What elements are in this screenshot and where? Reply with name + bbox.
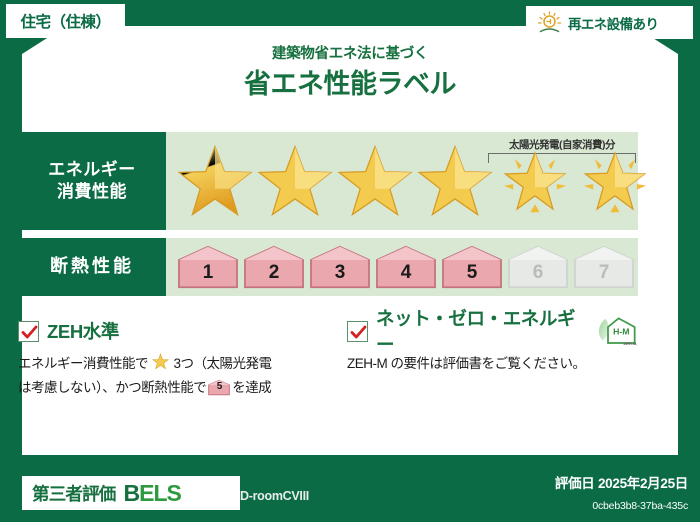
zeh-m-logo-text: H-M <box>613 326 629 336</box>
star-solar <box>496 142 574 220</box>
certification-checks: ZEH水準 エネルギー消費性能で 3つ（太陽光発電 は考慮しない）、かつ断熱性能… <box>18 318 640 408</box>
zeh-standard-section: ZEH水準 エネルギー消費性能で 3つ（太陽光発電 は考慮しない）、かつ断熱性能… <box>18 318 329 408</box>
renewable-equipment-label: 再エネ設備あり <box>568 13 658 33</box>
bels-mark-b: B <box>124 480 140 506</box>
zeh-desc-part3: を達成 <box>232 380 271 395</box>
insulation-performance-label: 断熱性能 <box>18 238 166 296</box>
zeh-m-logo-caption: "ZEH-M, <box>622 341 638 346</box>
inline-house-badge: 5 <box>208 379 230 396</box>
net-zero-energy-title: ネット・ゼロ・エネルギー <box>376 305 586 357</box>
insulation-level-number: 6 <box>533 262 544 289</box>
insulation-level-number: 5 <box>467 262 478 289</box>
inline-star-icon <box>149 358 173 373</box>
zeh-standard-description: エネルギー消費性能で 3つ（太陽光発電 は考慮しない）、かつ断熱性能で 5 を達… <box>18 353 329 399</box>
insulation-rating-body: 1 2 3 <box>166 238 638 296</box>
insulation-level-number: 3 <box>335 262 346 289</box>
zeh-standard-header: ZEH水準 <box>18 318 329 344</box>
renewable-equipment-chip: 再エネ設備あり <box>526 6 693 39</box>
bels-badge: 第三者評価 BELS <box>22 476 240 510</box>
zeh-desc-stars: 3つ（太陽光発電 <box>174 356 272 371</box>
star-rating <box>166 132 638 230</box>
zeh-m-logo-icon: H-M "ZEH-M, <box>596 316 640 346</box>
energy-performance-row: エネルギー 消費性能 太陽光発電(自家消費)分 <box>18 132 638 230</box>
star-filled <box>336 142 414 220</box>
zeh-standard-title: ZEH水準 <box>47 318 119 344</box>
energy-performance-label: エネルギー 消費性能 <box>18 132 166 230</box>
bels-mark: BELS <box>124 480 181 507</box>
star-filled <box>256 142 334 220</box>
property-code: D-roomCVIII <box>240 489 309 503</box>
label-subtitle: 建築物省エネ法に基づく <box>0 42 700 63</box>
insulation-level: 3 <box>309 245 371 289</box>
insulation-level-number: 2 <box>269 262 280 289</box>
zeh-standard-checkbox[interactable] <box>18 321 39 342</box>
star-solar <box>576 142 654 220</box>
insulation-level-scale: 1 2 3 <box>166 238 638 296</box>
net-zero-energy-section: ネット・ゼロ・エネルギー H-M "ZEH-M, <box>329 318 640 408</box>
bels-mark-els: ELS <box>139 480 181 506</box>
net-zero-energy-checkbox[interactable] <box>347 321 368 342</box>
net-zero-energy-header: ネット・ゼロ・エネルギー H-M "ZEH-M, <box>347 318 640 344</box>
check-icon <box>350 324 367 341</box>
insulation-level-number: 7 <box>599 262 610 289</box>
insulation-performance-row: 断熱性能 1 2 <box>18 238 638 296</box>
certificate-id: 0cbeb3b8-37ba-435c <box>592 500 688 512</box>
zeh-desc-part1: エネルギー消費性能で <box>18 356 148 371</box>
insulation-level-number: 4 <box>401 262 412 289</box>
net-zero-energy-description: ZEH-M の要件は評価書をご覧ください。 <box>347 353 640 375</box>
star-filled <box>416 142 494 220</box>
insulation-level: 2 <box>243 245 305 289</box>
insulation-level: 7 <box>573 245 635 289</box>
building-type-label: 住宅（住棟） <box>20 10 110 32</box>
label-title: 省エネ性能ラベル <box>0 62 700 101</box>
label-root: 住宅（住棟） 再エネ設備あり 建築物省エネ法に基づく 省エネ性能 <box>0 0 700 522</box>
insulation-level: 6 <box>507 245 569 289</box>
insulation-level: 4 <box>375 245 437 289</box>
evaluation-date: 評価日 2025年2月25日 <box>555 472 688 492</box>
star-filled <box>176 142 254 220</box>
insulation-level-number: 1 <box>203 262 214 289</box>
inline-house-number: 5 <box>208 379 230 395</box>
energy-label-line1: エネルギー <box>48 159 136 181</box>
energy-label-line2: 消費性能 <box>57 181 127 203</box>
zeh-desc-part2: は考慮しない）、かつ断熱性能で <box>18 380 206 395</box>
check-icon <box>21 324 38 341</box>
energy-rating-body: 太陽光発電(自家消費)分 <box>166 132 638 230</box>
insulation-level: 1 <box>177 245 239 289</box>
solar-sun-icon <box>536 11 563 35</box>
building-type-chip: 住宅（住棟） <box>6 4 125 38</box>
insulation-level-achieved: 5 <box>441 245 503 289</box>
bels-label: 第三者評価 <box>32 481 116 506</box>
